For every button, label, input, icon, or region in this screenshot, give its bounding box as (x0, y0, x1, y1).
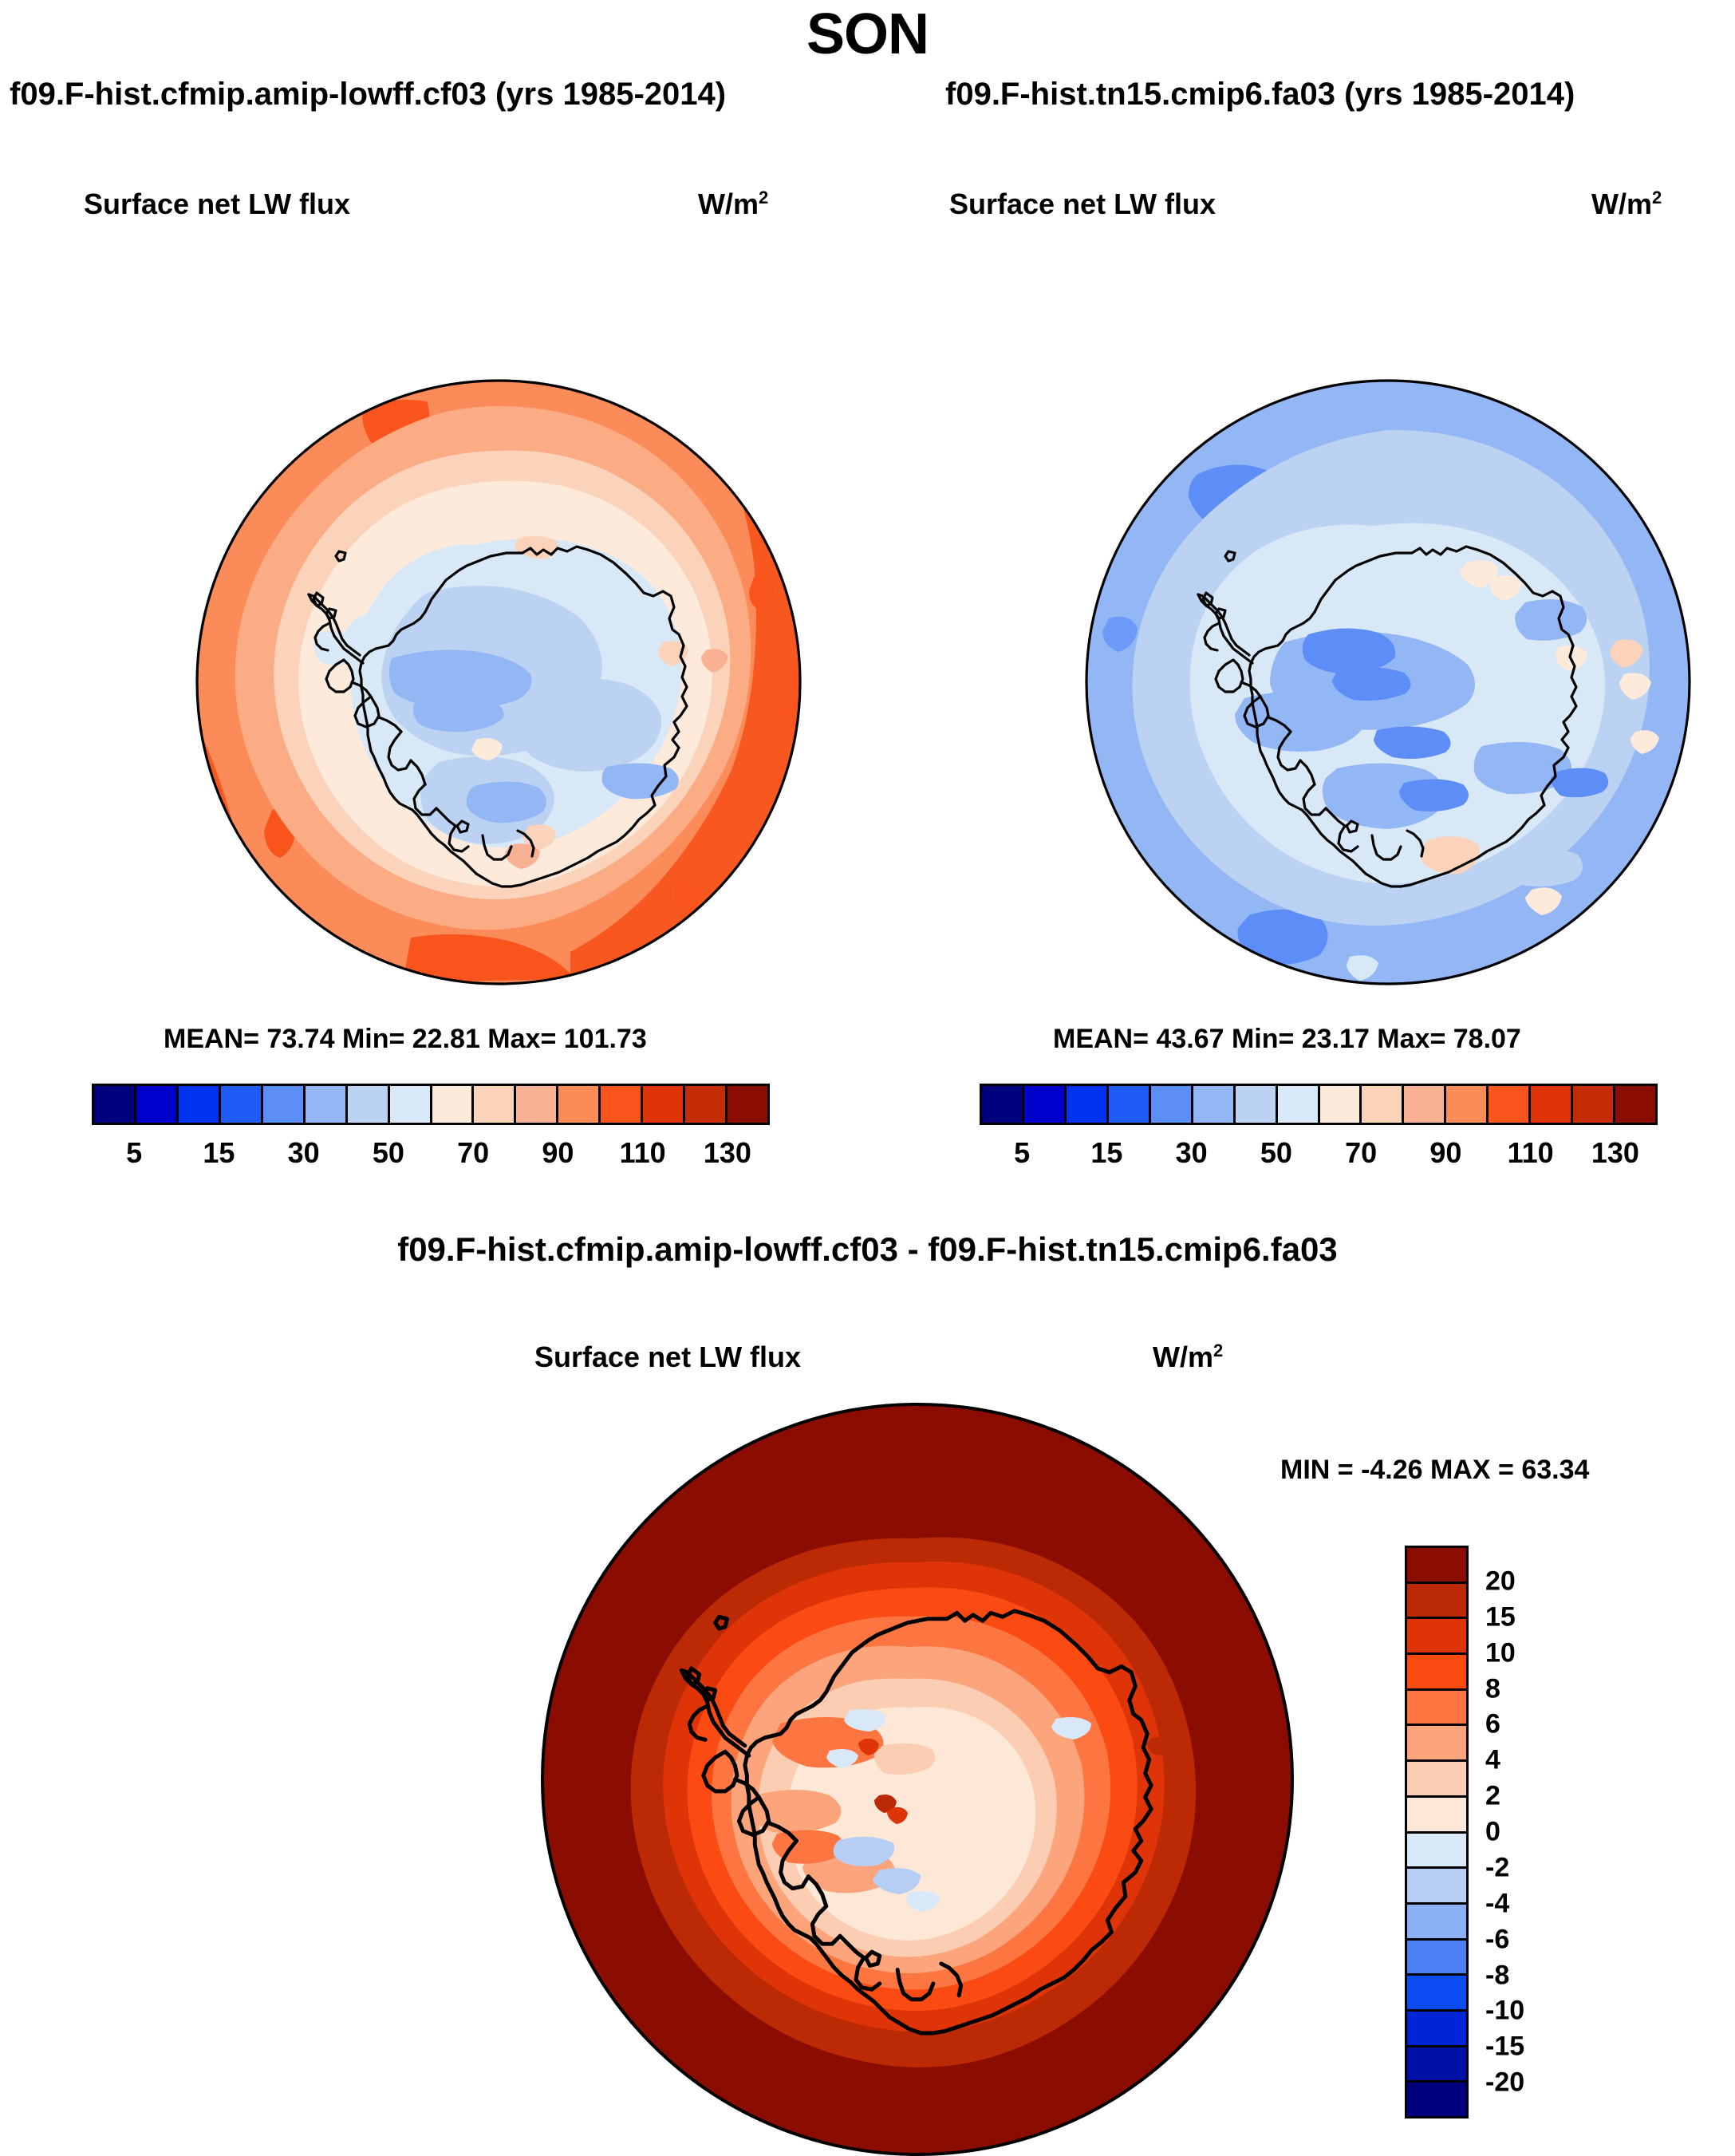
left-panel-title: f09.F-hist.cfmip.amip-lowff.cf03 (yrs 19… (10, 77, 726, 113)
colorbar-cell (1407, 1905, 1466, 1941)
colorbar-cell (1407, 1798, 1466, 1834)
colorbar-tick-label: -8 (1485, 1960, 1509, 1991)
right-colorbar[interactable] (980, 1084, 1658, 1125)
difference-map-svg (541, 1403, 1294, 2156)
colorbar-cell (1407, 1941, 1466, 1976)
colorbar-cell (1404, 1086, 1446, 1123)
colorbar-cell (1067, 1086, 1109, 1123)
colorbar-cell (1615, 1086, 1655, 1123)
colorbar-tick-label: 8 (1485, 1673, 1500, 1704)
colorbar-tick-label: -15 (1485, 2032, 1524, 2063)
colorbar-cell (1407, 1619, 1466, 1655)
colorbar-cell (1407, 1548, 1466, 1584)
difference-colorbar-labels: 20151086420-2-4-6-8-10-15-20 (1485, 1546, 1605, 2118)
colorbar-cell (558, 1086, 601, 1123)
difference-units-exponent: 2 (1213, 1341, 1223, 1360)
colorbar-cell (1531, 1086, 1573, 1123)
colorbar-tick-label: 50 (373, 1136, 404, 1170)
right-units-text: W/m (1591, 188, 1652, 220)
right-colorbar-labels: 51530507090110130 (980, 1136, 1658, 1176)
colorbar-tick-label: 110 (620, 1136, 666, 1170)
right-map-contours (1086, 381, 1690, 984)
colorbar-cell (306, 1086, 348, 1123)
colorbar-cell (136, 1086, 179, 1123)
left-polar-map (195, 379, 802, 985)
colorbar-cell (221, 1086, 263, 1123)
colorbar-cell (1407, 1584, 1466, 1620)
colorbar-cell (263, 1086, 306, 1123)
right-units-exponent: 2 (1652, 188, 1662, 207)
left-colorbar-labels: 51530507090110130 (92, 1136, 770, 1176)
colorbar-tick-label: -4 (1485, 1888, 1509, 1919)
colorbar-cell (1278, 1086, 1320, 1123)
colorbar-cell (1109, 1086, 1151, 1123)
colorbar-cell (685, 1086, 728, 1123)
colorbar-tick-label: 0 (1485, 1817, 1500, 1848)
colorbar-tick-label: 70 (457, 1136, 489, 1170)
colorbar-tick-label: 6 (1485, 1709, 1500, 1740)
left-stats-line: MEAN= 73.74 Min= 22.81 Max= 101.73 (164, 1024, 647, 1055)
colorbar-cell (1407, 1869, 1466, 1905)
right-map-svg (1085, 379, 1691, 985)
colorbar-cell (1446, 1086, 1489, 1123)
colorbar-tick-label: -6 (1485, 1924, 1509, 1955)
difference-units-label: W/m2 (1153, 1341, 1223, 1374)
colorbar-tick-label: 2 (1485, 1781, 1500, 1812)
colorbar-cell (1407, 1976, 1466, 2012)
colorbar-cell (516, 1086, 558, 1123)
colorbar-tick-label: 90 (1429, 1136, 1461, 1170)
colorbar-cell (1320, 1086, 1362, 1123)
colorbar-cell (1024, 1086, 1067, 1123)
right-stats-line: MEAN= 43.67 Min= 23.17 Max= 78.07 (1053, 1024, 1521, 1055)
colorbar-cell (474, 1086, 516, 1123)
right-polar-map (1085, 379, 1691, 985)
colorbar-tick-label: 30 (288, 1136, 320, 1170)
main-title: SON (0, 2, 1735, 67)
colorbar-cell (390, 1086, 432, 1123)
colorbar-tick-label: -10 (1485, 1996, 1524, 2027)
colorbar-tick-label: 5 (126, 1136, 142, 1170)
colorbar-cell (1362, 1086, 1404, 1123)
colorbar-tick-label: 5 (1014, 1136, 1030, 1170)
difference-minmax-line: MIN = -4.26 MAX = 63.34 (1280, 1455, 1589, 1486)
colorbar-cell (179, 1086, 221, 1123)
colorbar-cell (94, 1086, 136, 1123)
right-field-label: Surface net LW flux (949, 188, 1216, 221)
colorbar-cell (728, 1086, 767, 1123)
colorbar-cell (1236, 1086, 1278, 1123)
colorbar-tick-label: -20 (1485, 2067, 1524, 2099)
colorbar-cell (1407, 2012, 1466, 2047)
left-map-contours (195, 379, 802, 985)
colorbar-tick-label: 30 (1176, 1136, 1208, 1170)
colorbar-tick-label: 90 (542, 1136, 574, 1170)
colorbar-cell (1407, 1834, 1466, 1870)
difference-colorbar[interactable] (1405, 1546, 1469, 2118)
colorbar-cell (432, 1086, 475, 1123)
colorbar-tick-label: 15 (1090, 1136, 1122, 1170)
difference-units-text: W/m (1153, 1341, 1213, 1373)
right-panel-title: f09.F-hist.tn15.cmip6.fa03 (yrs 1985-201… (945, 77, 1575, 113)
colorbar-cell (1407, 1655, 1466, 1691)
right-units-label: W/m2 (1591, 188, 1662, 221)
colorbar-cell (982, 1086, 1024, 1123)
colorbar-tick-label: 15 (203, 1136, 235, 1170)
colorbar-cell (1489, 1086, 1531, 1123)
difference-panel-title: f09.F-hist.cfmip.amip-lowff.cf03 - f09.F… (0, 1230, 1735, 1269)
colorbar-tick-label: 50 (1260, 1136, 1292, 1170)
colorbar-cell (1407, 1691, 1466, 1727)
left-field-label: Surface net LW flux (84, 188, 350, 221)
colorbar-cell (1151, 1086, 1193, 1123)
colorbar-cell (1407, 2083, 1466, 2116)
colorbar-tick-label: 4 (1485, 1745, 1500, 1776)
colorbar-cell (1407, 1726, 1466, 1762)
colorbar-cell (1407, 2047, 1466, 2083)
colorbar-tick-label: 70 (1345, 1136, 1377, 1170)
difference-field-label: Surface net LW flux (534, 1341, 801, 1374)
colorbar-tick-label: -2 (1485, 1852, 1509, 1883)
colorbar-cell (1573, 1086, 1615, 1123)
colorbar-tick-label: 130 (704, 1136, 751, 1170)
difference-map-contours (542, 1404, 1292, 2154)
colorbar-cell (1407, 1762, 1466, 1798)
colorbar-cell (601, 1086, 643, 1123)
colorbar-tick-label: 130 (1591, 1136, 1639, 1170)
colorbar-tick-label: 20 (1485, 1566, 1516, 1597)
colorbar-tick-label: 10 (1485, 1637, 1516, 1668)
colorbar-cell (643, 1086, 685, 1123)
left-map-svg (195, 379, 802, 985)
colorbar-cell (348, 1086, 390, 1123)
colorbar-tick-label: 110 (1508, 1136, 1554, 1170)
left-colorbar[interactable] (92, 1084, 770, 1125)
colorbar-tick-label: 15 (1485, 1601, 1516, 1633)
colorbar-cell (1193, 1086, 1236, 1123)
left-units-exponent: 2 (759, 188, 768, 207)
left-units-label: W/m2 (698, 188, 768, 221)
difference-polar-map (541, 1403, 1294, 2156)
left-units-text: W/m (698, 188, 759, 220)
